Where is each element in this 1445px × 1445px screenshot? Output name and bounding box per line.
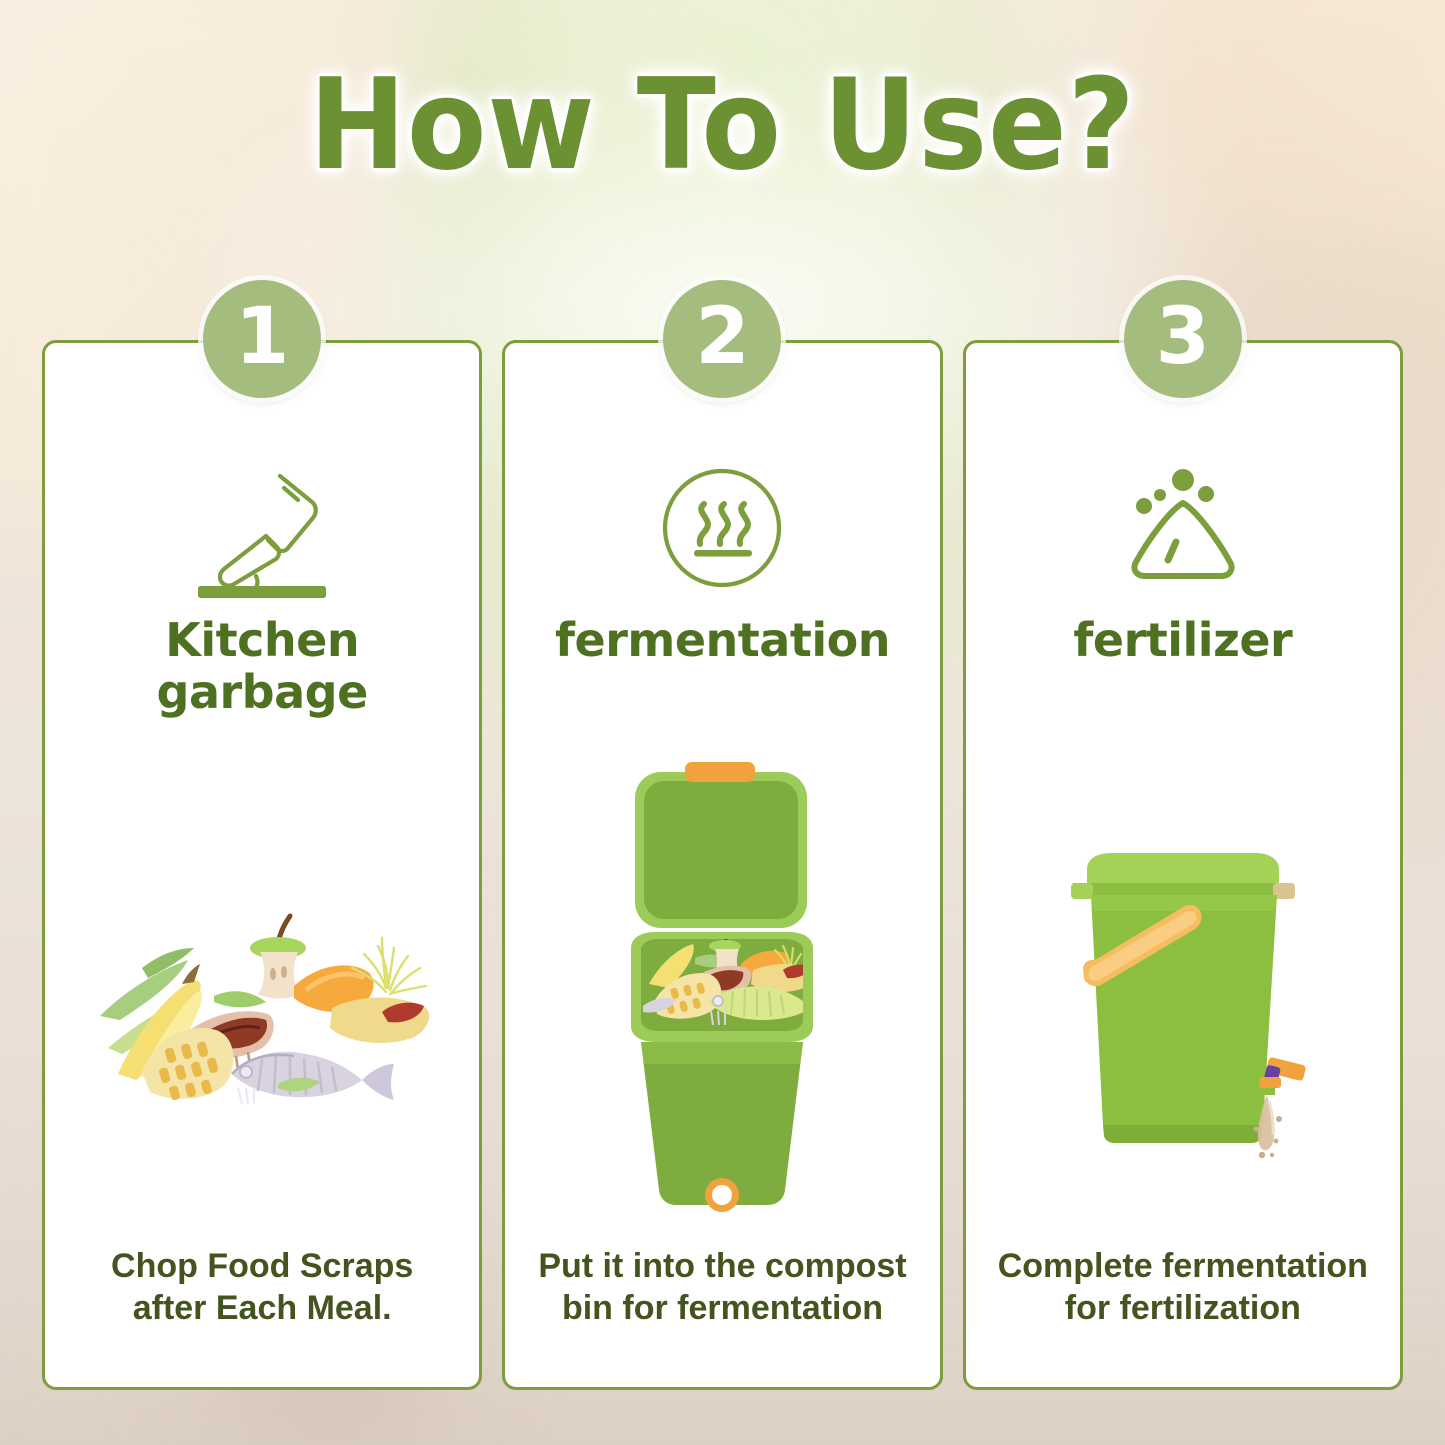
steam-base-bar — [694, 550, 752, 557]
step-caption-3-line-2: for fertilization — [976, 1287, 1390, 1329]
step-icon-1-zone — [45, 453, 479, 603]
pile-tick-shape — [1168, 542, 1176, 560]
step-caption-3-line-1: Complete fermentation — [976, 1245, 1390, 1287]
step-caption-1: Chop Food Scraps after Each Meal. — [55, 1245, 469, 1329]
step-icon-3-zone — [966, 453, 1400, 603]
knife-cutting-board-icon — [162, 458, 362, 598]
page-title: How To Use? — [309, 58, 1136, 192]
step-caption-2: Put it into the compost bin for fermenta… — [515, 1245, 929, 1329]
fertilizer-pile-icon — [1108, 458, 1258, 598]
step-card-1: 1 Kitchen garbage — [42, 340, 482, 1390]
steps-container: 1 Kitchen garbage — [42, 340, 1403, 1390]
step-number-badge-2: 2 — [663, 280, 781, 398]
closed-compost-bin-with-spigot-illustration — [1043, 833, 1323, 1163]
step-heading-3: fertilizer — [966, 615, 1400, 667]
step-caption-1-line-1: Chop Food Scraps — [55, 1245, 469, 1287]
step-card-3: 3 fertilizer — [963, 340, 1403, 1390]
step-heading-3-line-1: fertilizer — [966, 615, 1400, 667]
bin-drain-ring-shape — [705, 1178, 739, 1212]
bin-lid-shape — [1071, 853, 1295, 899]
open-compost-bin-illustration — [597, 758, 847, 1228]
pile-outline-shape — [1134, 503, 1231, 576]
page-title-wrapper: How To Use? — [0, 58, 1445, 192]
step-caption-3: Complete fermentation for fertilization — [976, 1245, 1390, 1329]
step-caption-2-line-1: Put it into the compost — [515, 1245, 929, 1287]
green-shoot-shape — [214, 991, 266, 1007]
step-heading-1-line-1: Kitchen — [45, 615, 479, 667]
step-heading-1-line-2: garbage — [45, 667, 479, 719]
lid-latch-shape — [685, 762, 755, 782]
step-card-2: 2 fermentation — [502, 340, 942, 1390]
food-scraps-pile-illustration — [82, 898, 442, 1108]
step-heading-1: Kitchen garbage — [45, 615, 479, 718]
steam-fermentation-icon — [652, 458, 792, 598]
step-number-badge-1: 1 — [203, 280, 321, 398]
fish-skeleton-shape — [232, 1052, 394, 1104]
step-art-2-zone — [505, 703, 939, 1283]
step-art-3-zone — [966, 758, 1400, 1238]
vegetable-scrap-shape — [330, 998, 429, 1043]
step-heading-2-line-1: fermentation — [505, 615, 939, 667]
step-number-badge-3: 3 — [1124, 280, 1242, 398]
step-heading-2: fermentation — [505, 615, 939, 667]
cutting-board-shape — [198, 586, 326, 598]
step-caption-2-line-2: bin for fermentation — [515, 1287, 929, 1329]
step-art-1-zone — [45, 743, 479, 1263]
bin-lid-shape — [635, 762, 807, 928]
step-caption-1-line-2: after Each Meal. — [55, 1287, 469, 1329]
step-icon-2-zone — [505, 453, 939, 603]
